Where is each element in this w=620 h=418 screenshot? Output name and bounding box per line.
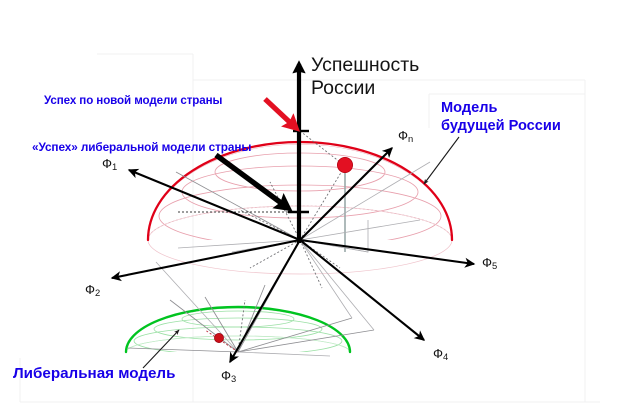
callout-arrow-future-model <box>424 137 459 184</box>
axis-label-phi1: Ф1 <box>102 156 117 171</box>
label-axis-title-line1: Успешность <box>311 54 419 77</box>
label-success-liberal-model: «Успех» либеральной модели страны <box>32 140 251 154</box>
label-success-new-model: Успех по новой модели страны <box>44 94 222 107</box>
axis-label-phin-subscript: n <box>408 133 413 144</box>
label-model-future-russia-line1: Модель <box>441 99 561 117</box>
axis-label-phi1-glyph: Ф <box>102 156 112 171</box>
axis-label-phi4: Ф4 <box>433 346 448 361</box>
marker-future-success-point <box>337 157 352 172</box>
axis-label-phi4-glyph: Ф <box>433 346 443 361</box>
axis-label-phi3-subscript: 3 <box>231 373 236 384</box>
marker-liberal-success-point <box>214 333 223 342</box>
axis-label-phi1-subscript: 1 <box>112 161 117 172</box>
red-arrow-pointer <box>265 99 296 128</box>
future-construction-rays <box>176 162 430 288</box>
axis-phi2 <box>112 240 300 278</box>
liberal-construction-rays <box>128 240 374 356</box>
label-liberal-model: Либеральная модель <box>13 365 175 382</box>
axis-label-phi3-glyph: Ф <box>221 368 231 383</box>
label-model-future-russia: Модель будущей России <box>441 99 561 135</box>
axis-label-phin-glyph: Ф <box>398 128 408 143</box>
axis-label-phi3: Ф3 <box>221 368 236 383</box>
axis-label-phin: Фn <box>398 128 413 143</box>
diagram-canvas <box>0 0 620 418</box>
label-axis-title-line2: России <box>311 77 419 100</box>
axis-label-phi4-subscript: 4 <box>443 351 448 362</box>
axis-label-phi5-subscript: 5 <box>492 260 497 271</box>
label-axis-title: Успешность России <box>311 54 419 100</box>
axis-label-phi2-subscript: 2 <box>95 287 100 298</box>
label-model-future-russia-line2: будущей России <box>441 117 561 135</box>
axis-label-phi5: Ф5 <box>482 255 497 270</box>
axis-label-phi2: Ф2 <box>85 282 100 297</box>
axis-label-phi2-glyph: Ф <box>85 282 95 297</box>
axis-label-phi5-glyph: Ф <box>482 255 492 270</box>
slide-canvas: Успех по новой модели страны «Успех» либ… <box>0 0 620 418</box>
